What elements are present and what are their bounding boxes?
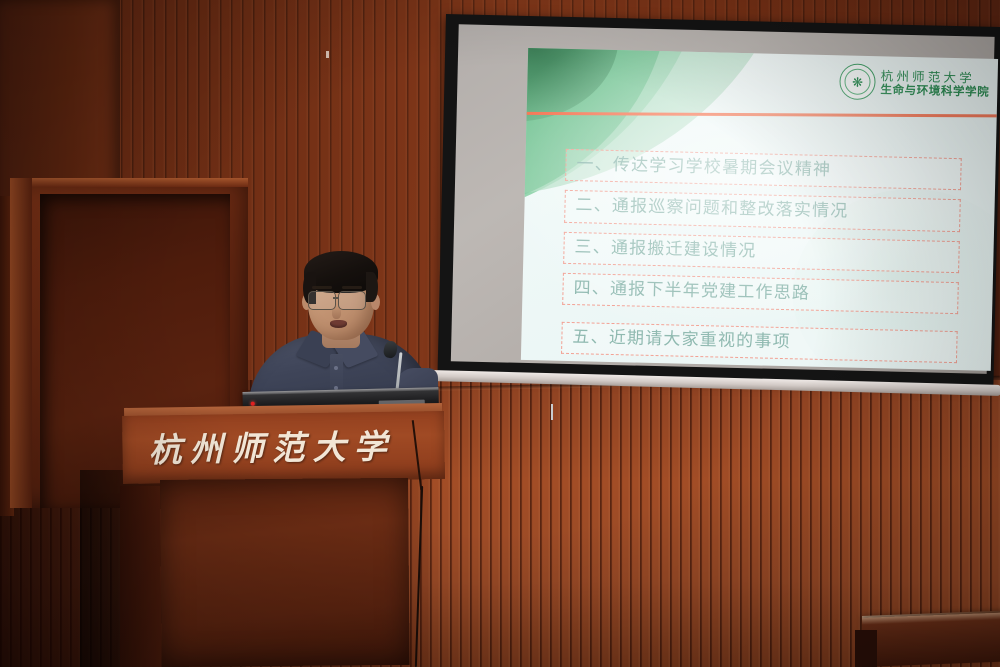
presenter-hair-side-right — [366, 272, 378, 302]
alcove-top-lip — [10, 178, 248, 187]
secondary-microphone-stem — [551, 404, 553, 420]
podium-engraved-title: 杭州师范大学 — [148, 420, 395, 472]
logo-text-block: 杭州师范大学 生命与环境科学学院 — [880, 69, 989, 97]
agenda-item: 四、通报下半年党建工作思路 — [562, 273, 959, 315]
projection-screen: ❋ 杭州师范大学 生命与环境科学学院 一、传达学习学校暑期会议精神 二、通报巡察… — [437, 14, 1000, 399]
college-name: 生命与环境科学学院 — [880, 83, 989, 98]
right-table-leg — [855, 630, 877, 667]
wall-mark — [326, 51, 329, 58]
screen-surface: ❋ 杭州师范大学 生命与环境科学学院 一、传达学习学校暑期会议精神 二、通报巡察… — [451, 24, 995, 374]
presentation-slide: ❋ 杭州师范大学 生命与环境科学学院 一、传达学习学校暑期会议精神 二、通报巡察… — [521, 48, 998, 371]
polo-button — [334, 366, 338, 370]
right-side-table — [862, 612, 1000, 667]
agenda-item: 一、传达学习学校暑期会议精神 — [565, 149, 962, 191]
lecture-hall-photo: ❋ 杭州师范大学 生命与环境科学学院 一、传达学习学校暑期会议精神 二、通报巡察… — [0, 0, 1000, 667]
presenter-eyebrow-left — [312, 286, 332, 289]
agenda-item: 三、通报搬迁建设情况 — [563, 231, 960, 273]
university-emblem-icon: ❋ — [839, 63, 876, 100]
podium-front-panel: 杭州师范大学 — [122, 411, 445, 484]
glasses-lens-right — [338, 291, 366, 310]
emblem-glyph: ❋ — [852, 75, 863, 88]
presenter-eyebrow-right — [342, 286, 362, 289]
presenter-mouth — [330, 320, 347, 328]
glasses-bridge — [333, 297, 339, 299]
slide-agenda-list: 一、传达学习学校暑期会议精神 二、通报巡察问题和整改落实情况 三、通报搬迁建设情… — [561, 149, 962, 371]
podium-lower-body — [160, 478, 410, 667]
agenda-item: 二、通报巡察问题和整改落实情况 — [564, 190, 961, 232]
agenda-item: 五、近期请大家重视的事项 — [561, 322, 958, 364]
alcove-left-edge — [10, 178, 32, 508]
slide-header-logo: ❋ 杭州师范大学 生命与环境科学学院 — [839, 63, 990, 103]
presenter-nose — [332, 306, 341, 319]
